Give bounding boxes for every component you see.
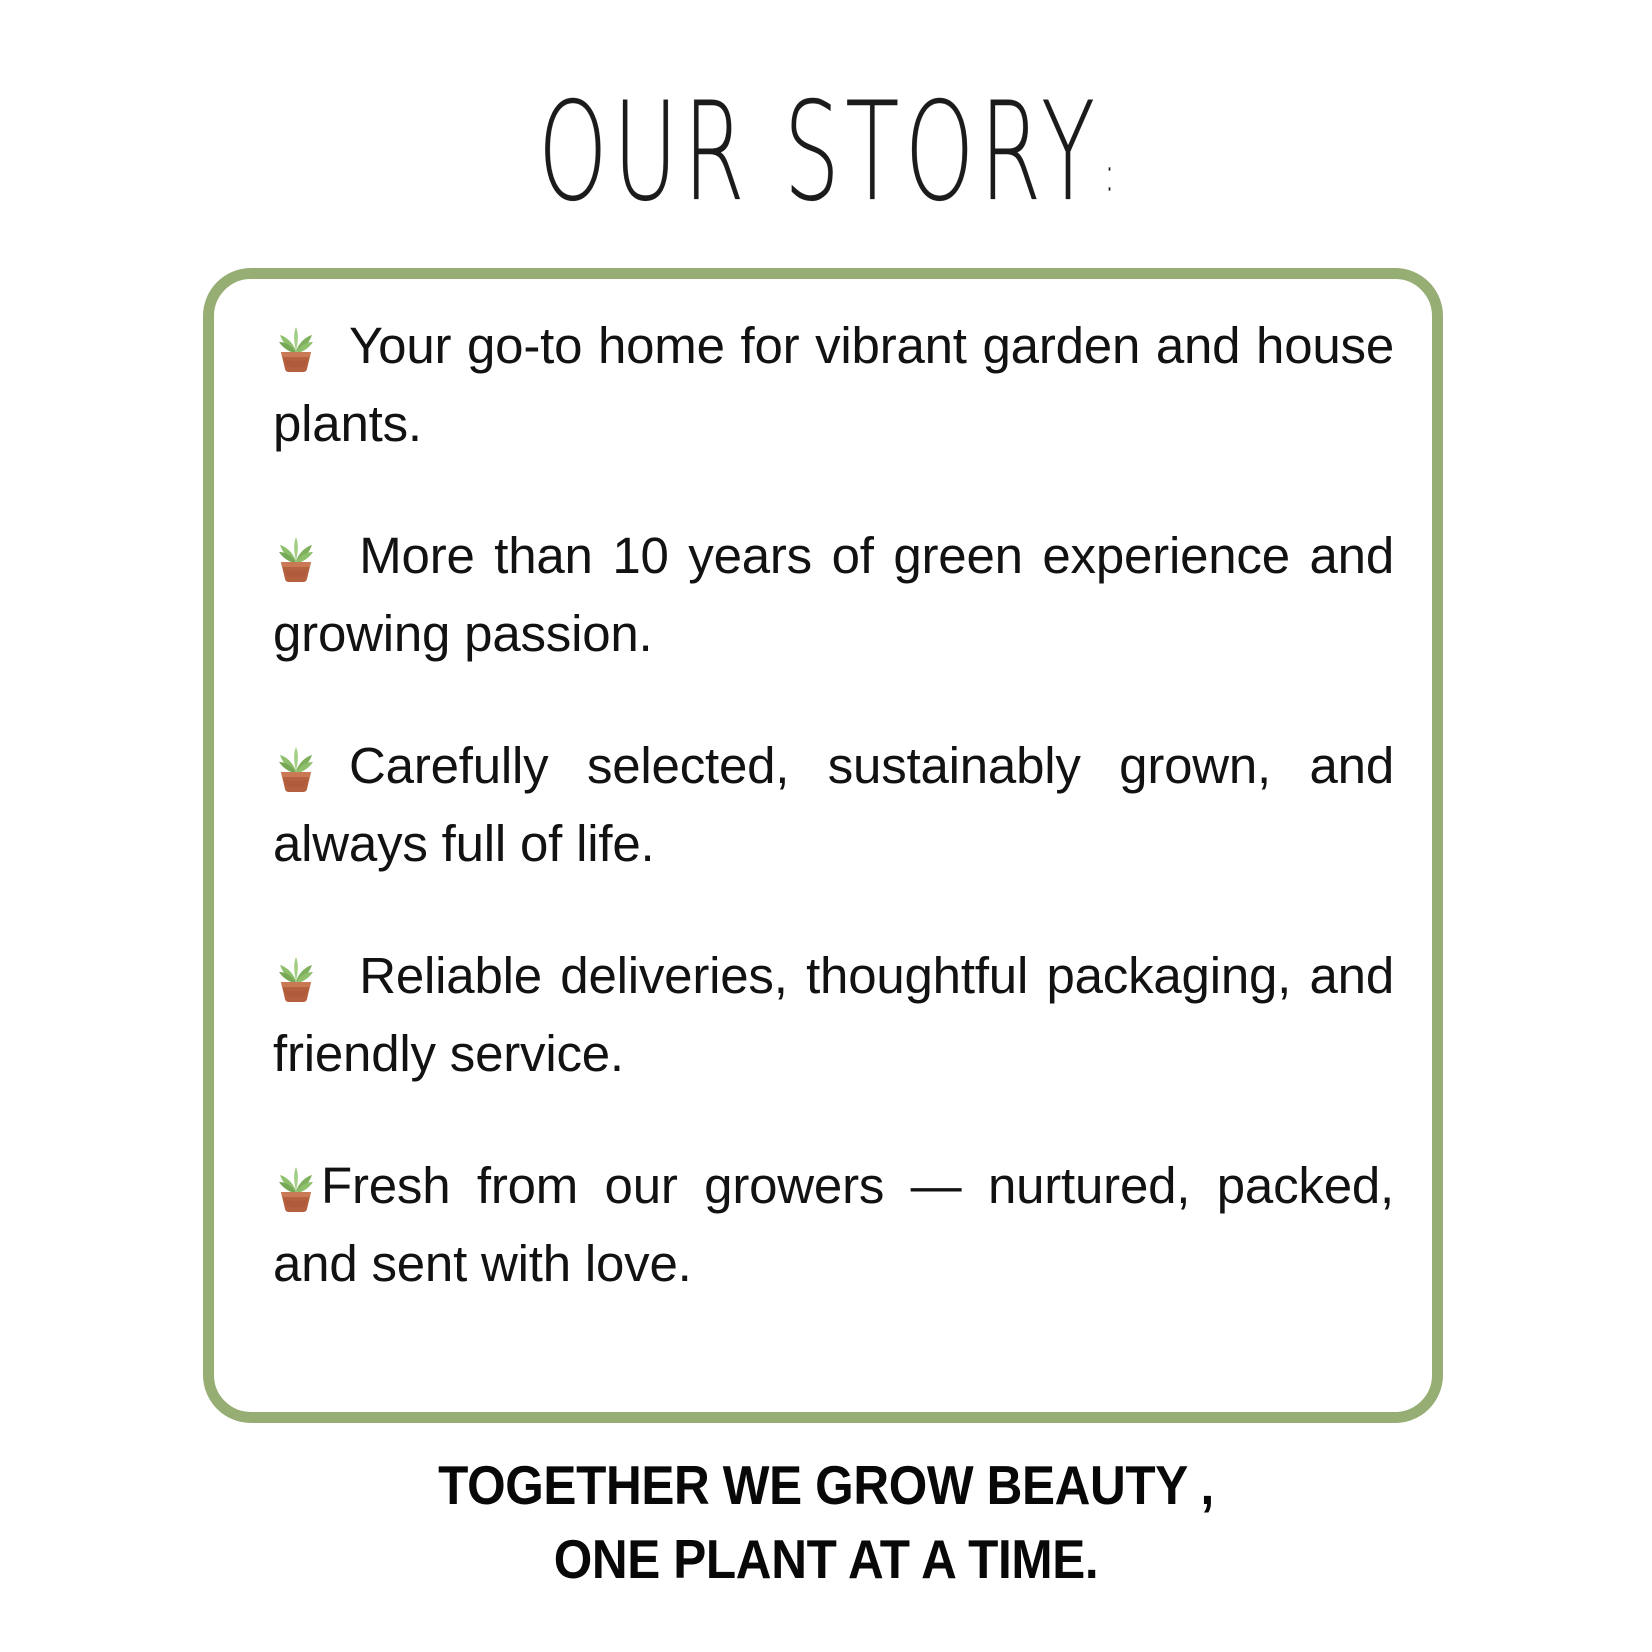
potted-plant-icon	[273, 1161, 319, 1213]
list-item-text: Fresh from our growers — nurtured, packe…	[273, 1157, 1394, 1292]
poster-canvas: OUR STORY:	[0, 0, 1652, 1652]
tagline: TOGETHER WE GROW BEAUTY , ONE PLANT AT A…	[0, 1448, 1652, 1596]
list-item-text: Carefully selected, sustainably grown, a…	[273, 737, 1394, 872]
page-title-label: OUR STORY	[538, 73, 1100, 232]
list-item: More than 10 years of green experience a…	[273, 517, 1394, 673]
story-box-content: Your go-to home for vibrant garden and h…	[273, 307, 1394, 1303]
list-item: Your go-to home for vibrant garden and h…	[273, 307, 1394, 463]
page-title: OUR STORY:	[0, 84, 1652, 180]
list-item-text: Your go-to home for vibrant garden and h…	[273, 317, 1394, 452]
list-item: Carefully selected, sustainably grown, a…	[273, 727, 1394, 883]
potted-plant-icon	[273, 321, 319, 373]
tagline-line-1: TOGETHER WE GROW BEAUTY ,	[83, 1448, 1570, 1522]
list-item: Reliable deliveries, thoughtful packagin…	[273, 937, 1394, 1093]
list-item-text: More than 10 years of green experience a…	[273, 527, 1394, 662]
list-item-text: Reliable deliveries, thoughtful packagin…	[273, 947, 1394, 1082]
page-title-colon: :	[1100, 146, 1114, 203]
tagline-line-2: ONE PLANT AT A TIME.	[83, 1522, 1570, 1596]
potted-plant-icon	[273, 741, 319, 793]
list-item: Fresh from our growers — nurtured, packe…	[273, 1147, 1394, 1303]
potted-plant-icon	[273, 951, 319, 1003]
page-title-text: OUR STORY:	[538, 84, 1115, 220]
story-box: Your go-to home for vibrant garden and h…	[203, 268, 1443, 1423]
potted-plant-icon	[273, 531, 319, 583]
